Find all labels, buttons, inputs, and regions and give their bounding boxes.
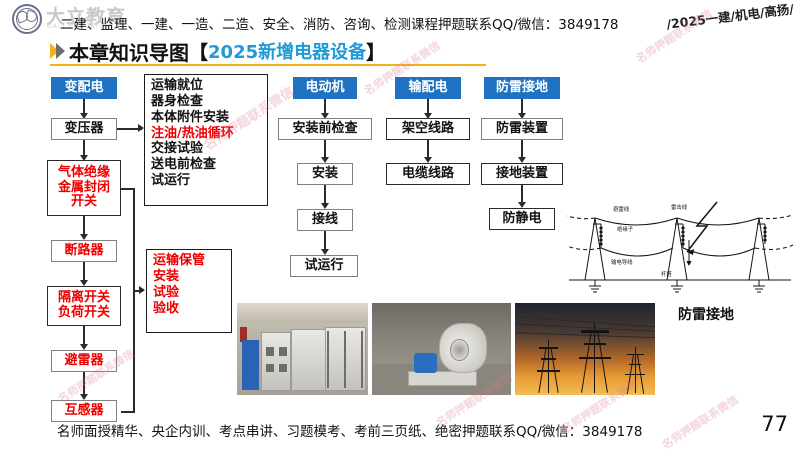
schematic-label-tower: 杆塔 — [661, 270, 672, 278]
node-install[interactable]: 安装 — [297, 163, 353, 185]
title-tag: 2025新增电器设备 — [208, 38, 366, 64]
node-cable-line[interactable]: 电缆线路 — [386, 163, 470, 185]
schematic-label-conductor: 输电导线 — [611, 258, 633, 266]
footer-promo-text: 名师面授精华、央企内训、考点串讲、习题模考、考前三页纸、绝密押题联系QQ/微信：… — [57, 420, 642, 440]
list-item: 运输就位 — [151, 78, 262, 94]
list-item: 送电前检查 — [151, 157, 262, 173]
list-item: 注油/热油循环 — [151, 126, 262, 142]
chevron-right-icon-2 — [56, 43, 65, 59]
title-bracket-open: 【 — [189, 38, 208, 65]
page-number: 77 — [761, 412, 788, 436]
listbox-transformer-steps[interactable]: 运输就位 器身检查 本体附件安装 注油/热油循环 交接试验 送电前检查 试运行 — [144, 74, 268, 206]
dali-logo-icon — [12, 4, 42, 34]
photo-transmission-towers: 输配电 — [515, 303, 655, 395]
node-wiring[interactable]: 接线 — [297, 209, 353, 231]
right-caption-label: 防雷接地 — [678, 304, 734, 324]
node-col1-head[interactable]: 变配电 — [51, 77, 117, 99]
schematic-label-insulator: 绝缘子 — [617, 225, 634, 233]
arrow-icon — [139, 286, 145, 294]
node-antistatic[interactable]: 防静电 — [489, 208, 555, 230]
node-trial-run[interactable]: 试运行 — [290, 255, 358, 277]
node-gis-switch[interactable]: 气体绝缘 金属封闭 开关 — [47, 160, 121, 216]
node-grounding-device[interactable]: 接地装置 — [481, 163, 563, 185]
node-arrester[interactable]: 避雷器 — [51, 350, 117, 372]
schematic-label-shield-wire: 避雷线 — [613, 205, 630, 213]
node-isolator[interactable]: 隔离开关 负荷开关 — [47, 286, 121, 326]
lightning-protection-schematic: 避雷线 雷击线 绝缘子 输电导线 杆塔 — [565, 196, 797, 302]
list-item: 安装 — [153, 269, 226, 285]
list-item: 试运行 — [151, 173, 262, 189]
node-transducer[interactable]: 互感器 — [51, 400, 117, 422]
list-item: 器身检查 — [151, 94, 262, 110]
node-col3-head[interactable]: 电动机 — [293, 77, 357, 99]
listbox-equipment-steps[interactable]: 运输保管 安装 试验 验收 — [146, 249, 232, 333]
node-pre-install-check[interactable]: 安装前检查 — [278, 118, 372, 140]
node-col4-head[interactable]: 输配电 — [395, 77, 461, 99]
node-col5-head[interactable]: 防雷接地 — [484, 77, 560, 99]
node-overhead-line[interactable]: 架空线路 — [386, 118, 470, 140]
list-item: 验收 — [153, 301, 226, 317]
title-underline — [50, 64, 486, 66]
node-breaker[interactable]: 断路器 — [51, 240, 117, 262]
list-item: 运输保管 — [153, 253, 226, 269]
corner-watermark: /2025一建/机电/高扬/ — [665, 0, 794, 33]
list-item: 本体附件安装 — [151, 110, 262, 126]
title-bracket-close: 】 — [366, 38, 385, 65]
watermark: 名师押题联系微信 — [659, 391, 742, 452]
page-header: 大立教育 DALI EDUCATION 二建、监理、一建、一造、二造、安全、消防… — [0, 0, 800, 36]
photo-motor: 电动机 — [372, 303, 511, 395]
schematic-label-lightning: 雷击线 — [671, 203, 688, 211]
photo-switchgear: 变配电 — [237, 303, 368, 395]
page-title-main: 本章知识导图 — [69, 37, 189, 66]
promo-banner-text: 二建、监理、一建、一造、二造、安全、消防、咨询、检测课程押题联系QQ/微信：38… — [60, 13, 618, 33]
page-title: 本章知识导图 【 2025新增电器设备 】 — [50, 38, 385, 64]
node-lightning-device[interactable]: 防雷装置 — [481, 118, 563, 140]
bracket-spine — [133, 188, 135, 412]
list-item: 试验 — [153, 285, 226, 301]
list-item: 交接试验 — [151, 141, 262, 157]
node-transformer[interactable]: 变压器 — [51, 118, 117, 140]
